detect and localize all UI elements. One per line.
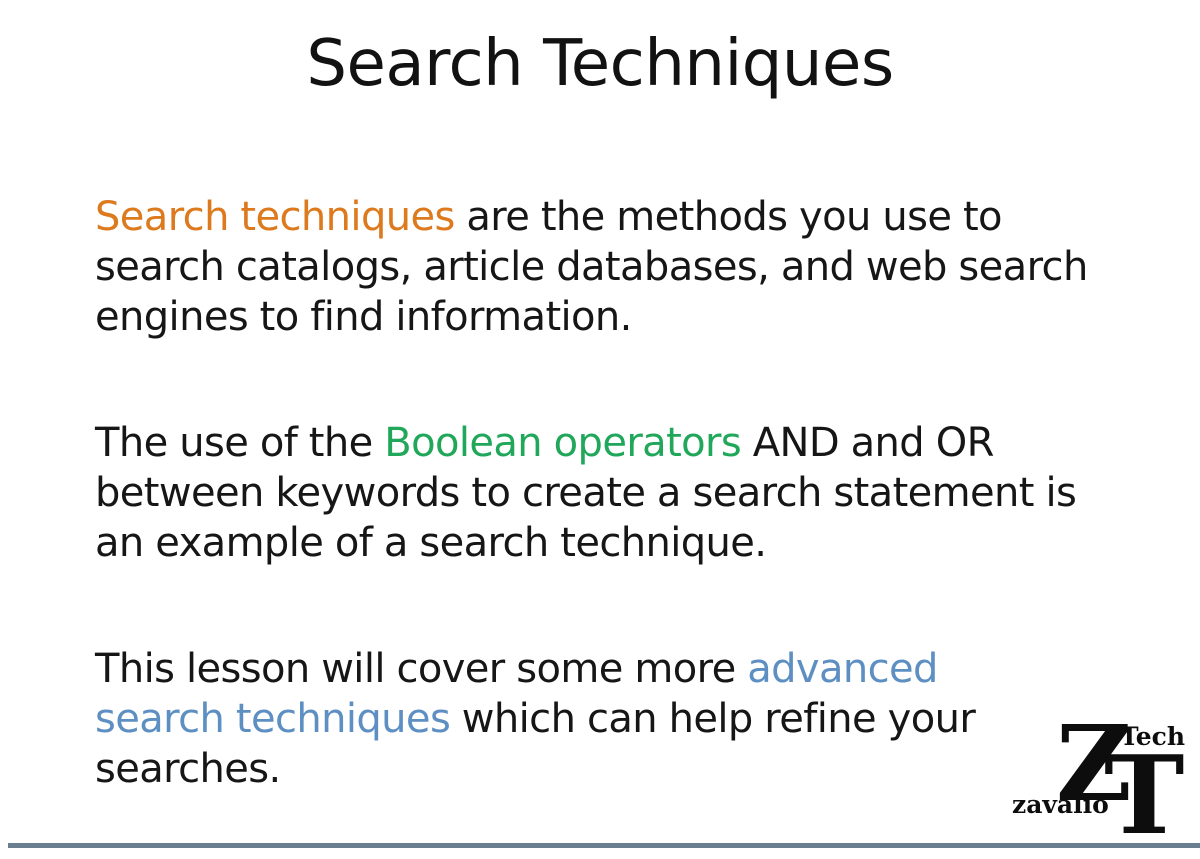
highlight-boolean-operators: Boolean operators — [384, 420, 741, 466]
paragraph-lesson-scope: This lesson will cover some more advance… — [95, 644, 1070, 794]
paragraph-definition: Search techniques are the methods you us… — [95, 192, 1130, 342]
paragraph-boolean: The use of the Boolean operators AND and… — [95, 418, 1130, 568]
logo-tech-label: Tech — [1120, 724, 1185, 749]
logo-letter-t: T — [1104, 742, 1184, 850]
page-title: Search Techniques — [0, 28, 1200, 102]
logo-brand-label: zavalio — [1012, 792, 1109, 817]
paragraph-lesson-lead: This lesson will cover some more — [95, 646, 747, 692]
zavalio-tech-logo: Z T Tech zavalio — [1008, 716, 1194, 844]
footer-divider — [8, 843, 1200, 848]
slide-canvas: Search Techniques Search techniques are … — [0, 0, 1200, 850]
highlight-search-techniques: Search techniques — [95, 194, 455, 240]
slide-body: Search techniques are the methods you us… — [95, 192, 1130, 794]
paragraph-boolean-lead: The use of the — [95, 420, 384, 466]
